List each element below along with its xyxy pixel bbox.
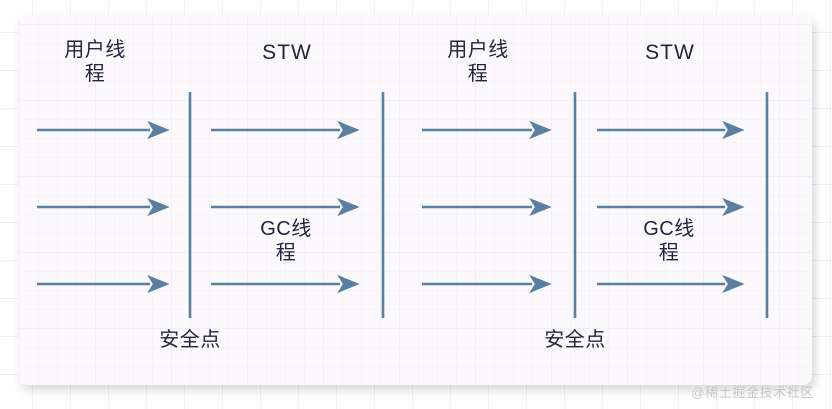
- label-user-thread-1: 用户线 程: [45, 38, 145, 87]
- label-gc-thread-1: GC线 程: [236, 217, 336, 266]
- label-stw-2: STW: [620, 40, 720, 66]
- label-safepoint-2: 安全点: [525, 328, 625, 352]
- label-gc-thread-2: GC线 程: [619, 217, 719, 266]
- label-user-thread-2: 用户线 程: [428, 38, 528, 87]
- label-stw-1: STW: [237, 40, 337, 66]
- diagram-stage: 用户线 程 STW 用户线 程 STW GC线 程 GC线 程 安全点 安全点 …: [0, 0, 832, 409]
- watermark-text: @稀土掘金技术社区: [691, 382, 814, 401]
- label-safepoint-1: 安全点: [140, 328, 240, 352]
